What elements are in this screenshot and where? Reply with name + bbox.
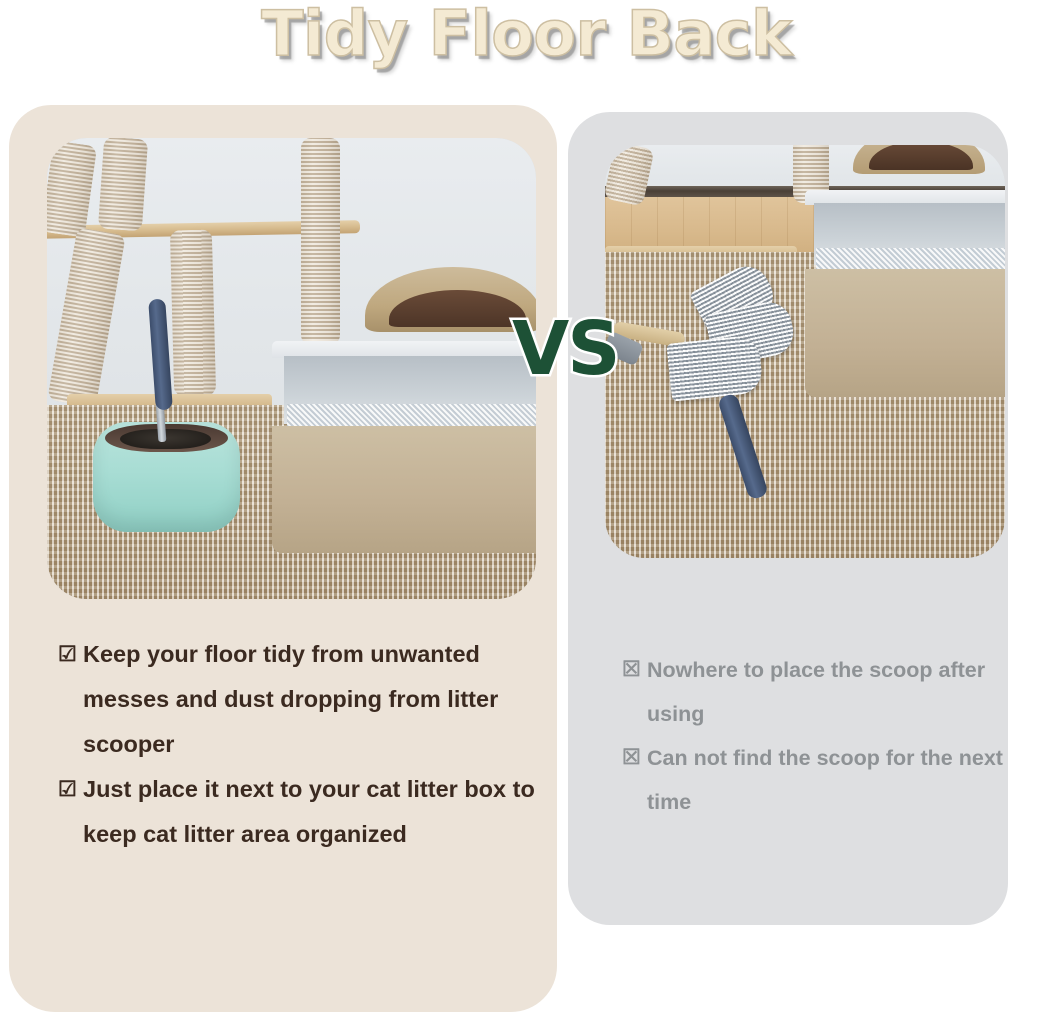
checked-box-icon: ☑ — [58, 767, 83, 812]
versus-badge: VS — [512, 306, 619, 392]
right-product-photo — [605, 145, 1005, 558]
litter-scoop-lower — [666, 334, 764, 401]
left-product-photo — [47, 138, 536, 599]
scoop-holder — [93, 422, 240, 533]
left-photo-scene — [47, 138, 536, 599]
scratcher-dark-inset — [869, 145, 973, 170]
left-benefit-list: ☑ Keep your floor tidy from unwanted mes… — [58, 632, 538, 857]
list-item-label: Just place it next to your cat litter bo… — [83, 767, 538, 857]
list-item-label: Can not find the scoop for the next time — [647, 736, 1012, 824]
sisal-post-top-mid — [98, 138, 148, 232]
litter-box-body — [272, 426, 536, 553]
crossed-box-icon: ☒ — [622, 648, 647, 692]
metal-litter-box — [805, 190, 1005, 397]
list-item: ☒ Can not find the scoop for the next ti… — [622, 736, 1012, 824]
list-item: ☑ Just place it next to your cat litter … — [58, 767, 538, 857]
metal-litter-box — [272, 341, 536, 553]
right-drawback-list: ☒ Nowhere to place the scoop after using… — [622, 648, 1012, 824]
list-item-label: Keep your floor tidy from unwanted messe… — [83, 632, 538, 767]
checked-box-icon: ☑ — [58, 632, 83, 677]
list-item: ☒ Nowhere to place the scoop after using — [622, 648, 1012, 736]
list-item: ☑ Keep your floor tidy from unwanted mes… — [58, 632, 538, 767]
litter-box-body — [805, 269, 1005, 397]
sisal-post-lower-mid — [170, 230, 216, 397]
sisal-post-tall-right — [301, 138, 340, 345]
right-photo-scene — [605, 145, 1005, 558]
page-title: Tidy Floor Back — [0, 0, 1053, 69]
crossed-box-icon: ☒ — [622, 736, 647, 780]
list-item-label: Nowhere to place the scoop after using — [647, 648, 1012, 736]
